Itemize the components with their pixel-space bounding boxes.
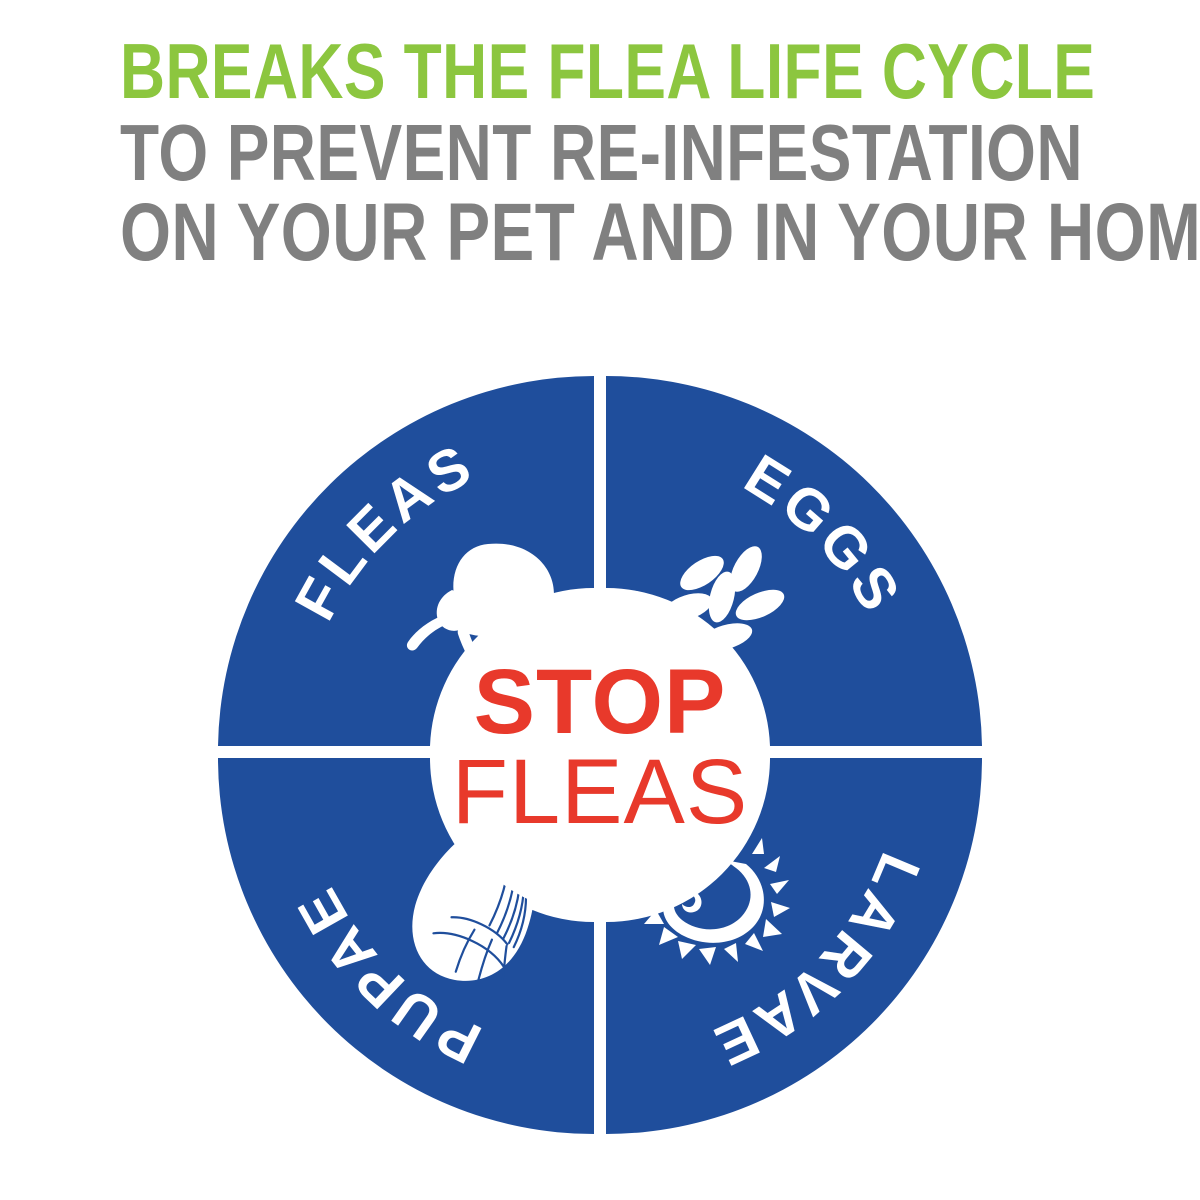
headline-line-1: BREAKS THE FLEA LIFE CYCLE (120, 36, 1080, 108)
headline-line-3: ON YOUR PET AND IN YOUR HOME (120, 195, 1080, 270)
flea-life-cycle-wheel: EGGS LARVAE (0, 358, 1200, 1158)
headline-line-2: TO PREVENT RE-INFESTATION (120, 116, 1080, 190)
hub-fleas-text: FLEAS (452, 741, 748, 843)
infographic-page: BREAKS THE FLEA LIFE CYCLE TO PREVENT RE… (0, 0, 1200, 1200)
hub-stop-text: STOP (474, 651, 727, 753)
headline-block: BREAKS THE FLEA LIFE CYCLE TO PREVENT RE… (0, 36, 1200, 277)
wheel-hub: STOP FLEAS (436, 588, 764, 916)
life-cycle-donut-svg: EGGS LARVAE (200, 358, 1000, 1148)
